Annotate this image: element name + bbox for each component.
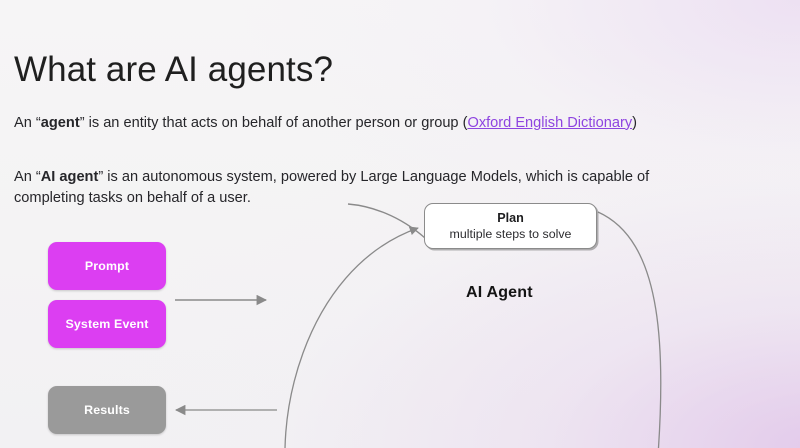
input-box-system-event-label: System Event: [65, 317, 148, 331]
arrow-reason-to-plan-arc: [285, 228, 418, 448]
slide-canvas: What are AI agents? An “agent” is an ent…: [0, 0, 800, 448]
node-plan-subtitle: multiple steps to solve: [450, 226, 572, 242]
arrow-reason-to-plan: [348, 204, 425, 238]
output-box-results[interactable]: Results: [48, 386, 166, 434]
paragraph-agent-definition: An “agent” is an entity that acts on beh…: [14, 113, 637, 134]
input-box-prompt-label: Prompt: [85, 259, 129, 273]
input-box-prompt[interactable]: Prompt: [48, 242, 166, 290]
node-plan[interactable]: Plan multiple steps to solve: [424, 203, 597, 249]
ai-agent-def-lead: An “: [14, 169, 41, 185]
ai-agent-loop-diagram: Prompt System Event Results Plan multipl…: [0, 190, 800, 448]
diagram-center-label: AI Agent: [466, 284, 533, 302]
agent-def-lead: An “: [14, 115, 41, 131]
ai-agent-def-term: AI agent: [41, 169, 99, 185]
page-title: What are AI agents?: [14, 50, 333, 90]
oxford-english-dictionary-link[interactable]: Oxford English Dictionary: [467, 115, 632, 131]
node-plan-title: Plan: [497, 211, 524, 226]
agent-def-middle: ” is an entity that acts on behalf of an…: [80, 115, 468, 131]
arrow-plan-to-act: [598, 212, 661, 448]
input-box-system-event[interactable]: System Event: [48, 300, 166, 348]
agent-def-term: agent: [41, 115, 80, 131]
agent-def-tail: ): [632, 115, 637, 131]
output-box-results-label: Results: [84, 403, 130, 417]
